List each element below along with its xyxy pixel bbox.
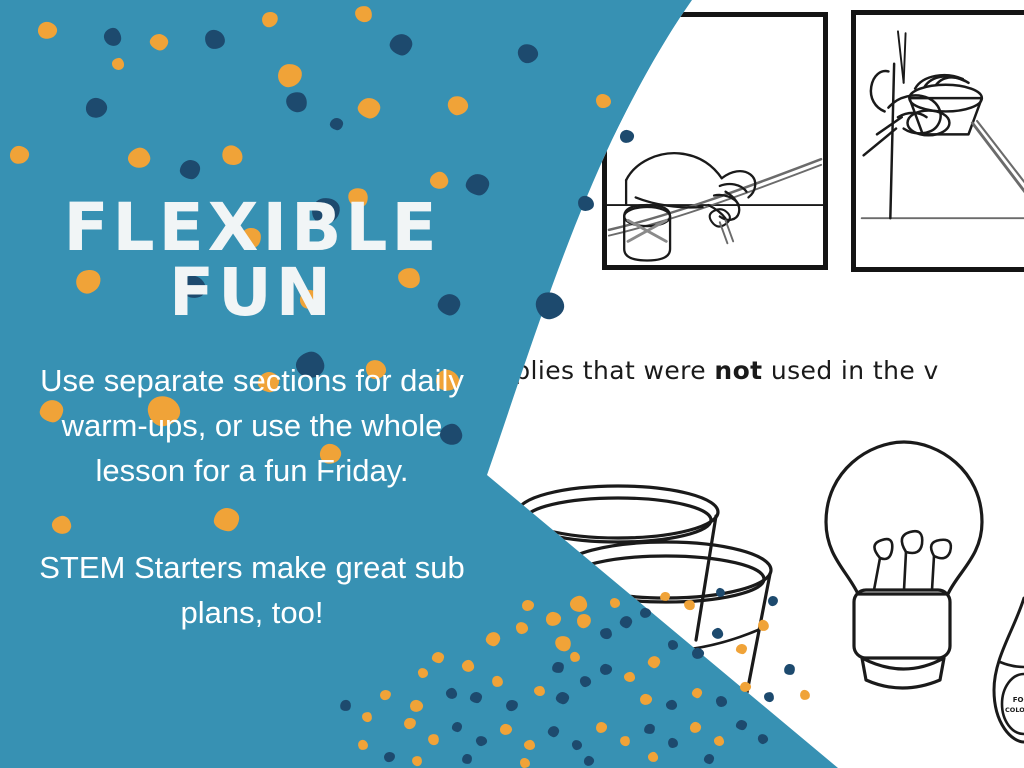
hand-tying-string-panel [602,12,828,270]
confetti-dot [427,733,440,746]
confetti-dot [339,699,352,712]
food-coloring-bottle: FOOD COLORING [994,598,1024,742]
confetti-dot [522,600,535,612]
confetti-dot [469,691,482,703]
confetti-dot [599,627,612,639]
confetti-dot [499,723,513,736]
confetti-dot [596,94,611,108]
confetti-dot [534,686,546,697]
confetti-dot [619,735,631,747]
confetti-dot [610,598,621,609]
confetti-dot [596,722,608,734]
page-title: FLEXIBLE FUN [28,196,476,325]
confetti-dot [643,723,656,735]
confetti-dot [428,170,450,191]
confetti-dot [452,722,463,733]
confetti-dot [387,31,414,58]
confetti-dot [569,651,581,663]
confetti-dot [354,5,373,23]
body-paragraph-2: STEM Starters make great sub plans, too! [28,546,476,636]
confetti-dot [84,96,109,120]
confetti-dot [579,675,592,688]
confetti-dot [260,10,279,28]
confetti-dot [446,94,470,117]
confetti-dot [384,751,396,762]
confetti-dot [403,717,417,730]
confetti-dot [485,631,502,648]
confetti-dot [569,595,589,614]
confetti-dot [9,145,31,166]
confetti-dot [204,29,226,50]
confetti-dot [103,27,122,47]
hand-pouring-cup-panel [851,10,1024,272]
confetti-dot [361,711,372,722]
confetti-dot [418,668,429,679]
confetti-dot [461,753,472,764]
confetti-dot [111,57,124,70]
confetti-dot [551,661,564,674]
confetti-dot [646,654,661,669]
confetti-dot [691,687,703,699]
plastic-cup-front [561,542,771,737]
svg-text:COLORING: COLORING [1005,706,1024,714]
confetti-dot [36,20,58,41]
confetti-dot [491,675,504,688]
text-column: FLEXIBLE FUN Use separate sections for d… [28,196,476,636]
plastic-cup-back [518,486,718,670]
confetti-dot [735,719,747,730]
confetti-dot [583,755,595,767]
confetti-dot [668,738,679,749]
confetti-dot [464,172,491,197]
confetti-dot [431,651,444,664]
confetti-dot [714,736,725,747]
confetti-dot [356,95,383,120]
confetti-dot [520,758,531,768]
confetti-dot [505,699,518,712]
confetti-dot [524,739,536,750]
confetti-dot [409,698,425,713]
confetti-dot [329,117,344,131]
confetti-dot [571,739,582,750]
confetti-dot [411,755,423,767]
headline-line-2: FUN [28,261,476,326]
confetti-dot [179,159,201,180]
confetti-dot [515,621,528,634]
confetti-dot [553,634,573,653]
confetti-dot [668,640,679,651]
confetti-dot [647,751,659,763]
confetti-dot [639,693,653,706]
confetti-dot [624,671,636,682]
confetti-dot [475,735,488,747]
confetti-dot [277,63,303,88]
body-paragraph-1: Use separate sections for daily warm-ups… [28,359,476,494]
confetti-dot [689,721,702,734]
confetti-dot [665,699,677,710]
ws-text-before: pplies that were [498,356,714,385]
confetti-dot [461,659,476,674]
confetti-dot [445,687,458,700]
confetti-dot [619,615,634,630]
light-bulb [826,442,982,688]
confetti-dot [284,90,308,113]
confetti-dot [125,145,152,171]
confetti-dot [704,754,715,765]
confetti-dot [576,613,593,630]
confetti-dot [757,733,769,745]
confetti-dot [517,42,540,64]
confetti-dot [547,725,561,739]
confetti-dot [555,691,571,706]
confetti-dot [545,611,562,627]
confetti-dot [357,739,369,751]
worksheet-instruction-text: pplies that were not used in the v [498,356,1024,385]
confetti-dot [148,31,170,52]
slide-canvas: pplies that were not used in the v [0,0,1024,768]
confetti-dot [599,663,612,676]
supply-illustrations: FOOD COLORING SHARPIE [500,440,1024,768]
ws-text-after: used in the v [763,356,939,385]
confetti-dot [380,689,392,700]
confetti-dot [716,696,728,708]
ws-text-bold: not [714,356,762,385]
svg-text:FOOD: FOOD [1013,696,1024,704]
confetti-dot [219,143,246,168]
